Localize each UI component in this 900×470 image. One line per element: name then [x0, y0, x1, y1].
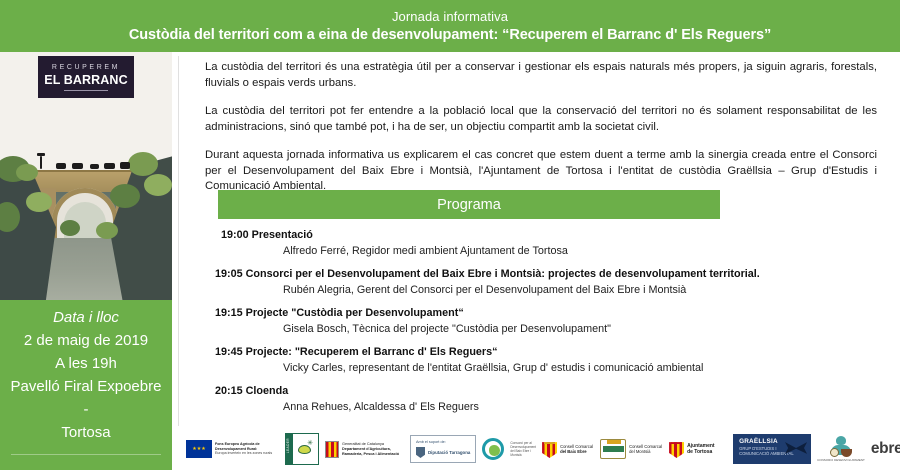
consorci-figure-icon [829, 436, 853, 458]
diputacio-name: Diputació Tarragona [428, 450, 470, 455]
poster-illustration: RECUPEREM EL BARRANC [0, 52, 172, 300]
logo-generalitat-text: Generalitat de Catalunya Departament d'A… [342, 442, 404, 457]
schedule-item-speaker: Rubén Alegria, Gerent del Consorci per e… [205, 283, 877, 297]
eu-stars-icon: ★★★ [186, 440, 212, 458]
schedule-item-heading: 19:00 Presentació [205, 228, 877, 242]
tortosa-text: Ajuntament de Tortosa [687, 443, 727, 456]
consorci-head-icon [836, 436, 846, 445]
montsia-crown-icon [607, 440, 621, 444]
logo-consell-comarcal-montsia: Consell Comarcal del Montsià [600, 439, 663, 459]
venue-dash: - [6, 398, 166, 421]
logo-ebreambient: ebreambient [871, 440, 900, 458]
poster-plate-line1: RECUPEREM [52, 63, 120, 73]
graellsia-name: GRAËLLSIA [739, 438, 805, 445]
consorci-circle-mark-icon [830, 448, 839, 457]
schedule-item-heading: 19:45 Projecte: "Recuperem el Barranc d'… [205, 345, 877, 359]
main-text: La custòdia del territori és una estratè… [205, 60, 877, 195]
logo-consorci-baix-ebre-montsia [482, 438, 504, 460]
schedule-item: 19:05 Consorci per el Desenvolupament de… [205, 267, 877, 297]
feader-line1: Fons Europeu Agrícola de [215, 442, 260, 446]
logo-feader-text: Fons Europeu Agrícola de Desenvolupament… [215, 442, 279, 456]
livestock-silhouette [120, 162, 130, 169]
schedule-item: 19:00 Presentació Alfredo Ferré, Regidor… [205, 228, 877, 258]
baix-ebre-crest-icon [542, 440, 557, 458]
sponsor-logo-strip: ★★★ Fons Europeu Agrícola de Desenvolupa… [186, 428, 900, 470]
logo-ajuntament-tortosa: Ajuntament de Tortosa [669, 440, 727, 458]
graellsia-tagline-line1: GRUP D'ESTUDIS I [739, 446, 777, 451]
logo-graellsia: GRAËLLSIA GRUP D'ESTUDIS I COMUNICACIÓ A… [733, 434, 811, 464]
venue-divider [11, 454, 161, 455]
schedule-item-speaker: Gisela Bosch, Tècnica del projecte "Cust… [205, 322, 877, 336]
schedule-item-heading: 19:05 Consorci per el Desenvolupament de… [205, 267, 877, 281]
logo-diputacio-tarragona: Amb el suport de: Diputació Tarragona [410, 435, 476, 463]
poster-plate-line2: EL BARRANC [44, 73, 127, 87]
consorci-arc-icon [841, 449, 852, 457]
diputacio-caption: Amb el suport de: [416, 440, 470, 444]
page-title: Custòdia del territori com a eina de des… [129, 25, 771, 45]
gencat-line2: Departament d'Agricultura, [342, 447, 391, 451]
vegetation-icon [96, 222, 118, 239]
feader-line3: Europa inverteix en les zones rurals [215, 451, 272, 455]
venue-heading: Data i lloc [6, 306, 166, 329]
leader-label: LEADER [287, 438, 291, 453]
montsia-band-icon [603, 446, 624, 452]
schedule-item-heading: 19:15 Projecte "Custòdia per Desenvolupa… [205, 306, 877, 320]
diputacio-crest-icon [416, 447, 425, 458]
venue-block: Data i lloc 2 de maig de 2019 A les 19h … [0, 300, 172, 470]
page-header: Jornada informativa Custòdia del territo… [0, 0, 900, 52]
vegetation-icon [110, 184, 140, 208]
tortosa-line2: de Tortosa [687, 449, 712, 455]
logo-generalitat: Generalitat de Catalunya Departament d'A… [325, 441, 404, 458]
tortosa-crest-icon [669, 440, 684, 458]
left-column: RECUPEREM EL BARRANC Data i lloc 2 de ma… [0, 52, 172, 470]
venue-city: Tortosa [6, 421, 166, 444]
baix-ebre-text: Consell Comarcal del Baix Ebre [560, 444, 594, 455]
leader-sidebar: LEADER [286, 434, 293, 464]
programa-schedule: 19:00 Presentació Alfredo Ferré, Regidor… [205, 228, 877, 414]
livestock-silhouette [104, 163, 115, 169]
consorci-desenvolupament-caption: CONSORCI DESENVOLUPAMENT [817, 459, 865, 463]
schedule-item-speaker: Alfredo Ferré, Regidor medi ambient Ajun… [205, 244, 877, 258]
consorci-leaf-icon [489, 445, 500, 456]
tortosa-line1: Ajuntament [687, 443, 715, 449]
figure-silhouette [37, 153, 45, 156]
programa-label: Programa [437, 195, 501, 215]
eu-flag-icon: ★★★ [186, 440, 212, 458]
poster-page: Jornada informativa Custòdia del territo… [0, 0, 900, 470]
vegetation-icon [16, 164, 38, 181]
header-kicker: Jornada informativa [392, 8, 508, 25]
venue-date: 2 de maig de 2019 [6, 329, 166, 352]
logo-consorci-desenvolupament: CONSORCI DESENVOLUPAMENT [817, 436, 865, 463]
programa-header-bar: Programa [218, 190, 720, 219]
schedule-item-heading: 20:15 Cloenda [205, 384, 877, 398]
venue-time: A les 19h [6, 352, 166, 375]
gencat-line3: Ramaderia, Pesca i Alimentació [342, 452, 399, 456]
baix-ebre-line2: del Baix Ebre [560, 449, 587, 454]
venue-place: Pavelló Firal Expoebre [6, 375, 166, 398]
gencat-line1: Generalitat de Catalunya [342, 442, 384, 446]
consorci-caption: Consorci per al Desenvolupament del Baix… [510, 441, 536, 457]
diputacio-row: Diputació Tarragona [416, 447, 470, 458]
livestock-silhouette [56, 163, 66, 169]
schedule-item: 20:15 Cloenda Anna Rehues, Alcaldessa d'… [205, 384, 877, 414]
logo-consell-comarcal-baix-ebre: Consell Comarcal del Baix Ebre [542, 440, 594, 458]
schedule-item-speaker: Anna Rehues, Alcaldessa d' Els Reguers [205, 400, 877, 414]
feader-line2: Desenvolupament Rural: [215, 447, 257, 451]
poster-plate-rule [64, 90, 108, 91]
baix-ebre-line1: Consell Comarcal [560, 444, 593, 449]
schedule-item-speaker: Vicky Carles, representant de l'entitat … [205, 361, 877, 375]
intro-paragraph-2: La custòdia del territori pot fer entend… [205, 104, 877, 135]
montsia-line1: Consell Comarcal [629, 444, 662, 449]
schedule-item: 19:15 Projecte "Custòdia per Desenvolupa… [205, 306, 877, 336]
vegetation-icon [128, 152, 158, 176]
vegetation-icon [60, 220, 80, 236]
montsia-text: Consell Comarcal del Montsià [629, 444, 663, 455]
figure-silhouette [40, 156, 42, 169]
intro-paragraph-1: La custòdia del territori és una estratè… [205, 60, 877, 91]
ebreambient-part1: ebre [871, 440, 900, 457]
generalitat-shield-icon [325, 441, 339, 458]
leader-star-icon: ✳ [307, 439, 313, 447]
livestock-silhouette [90, 164, 99, 169]
schedule-item: 19:45 Projecte: "Recuperem el Barranc d'… [205, 345, 877, 375]
consorci-circle-icon [482, 438, 504, 460]
montsia-crest-icon [600, 439, 626, 459]
poster-title-plate: RECUPEREM EL BARRANC [38, 56, 134, 98]
graellsia-tagline-line2: COMUNICACIÓ AMBIENTAL [739, 451, 794, 456]
livestock-silhouette [72, 163, 83, 169]
intro-paragraph-3: Durant aquesta jornada informativa us ex… [205, 148, 877, 195]
vegetation-icon [144, 174, 172, 196]
column-divider [178, 56, 179, 426]
montsia-line2: del Montsià [629, 449, 650, 454]
logo-feader: ★★★ Fons Europeu Agrícola de Desenvolupa… [186, 440, 279, 458]
vegetation-icon [26, 192, 52, 212]
logo-leader: LEADER ✳ [285, 433, 319, 465]
